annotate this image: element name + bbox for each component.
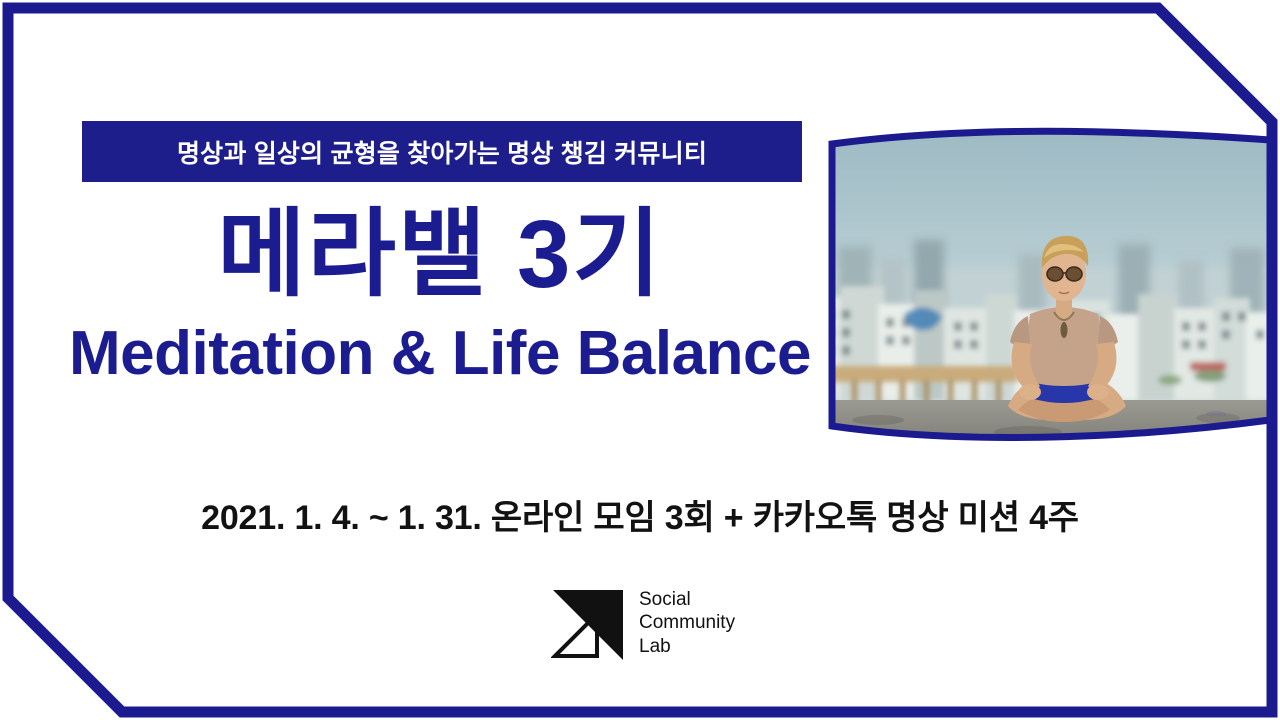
poster-canvas: 명상과 일상의 균형을 찾아가는 명상 챙김 커뮤니티 메라밸 3기 Medit…	[0, 0, 1280, 720]
logo-line-3: Lab	[639, 635, 735, 658]
photo-content	[818, 118, 1280, 448]
hero-photo	[818, 118, 1280, 448]
social-community-lab-mark	[551, 586, 625, 660]
page-title: 메라밸 3기	[0, 205, 880, 306]
hero-photo-svg	[818, 118, 1280, 448]
brand-logo: Social Community Lab	[551, 586, 735, 660]
schedule-detail-text: 2021. 1. 4. ~ 1. 31. 온라인 모임 3회 + 카카오톡 명상…	[0, 490, 1280, 539]
tagline-banner: 명상과 일상의 균형을 찾아가는 명상 챙김 커뮤니티	[82, 121, 802, 182]
tagline-text: 명상과 일상의 균형을 찾아가는 명상 챙김 커뮤니티	[177, 134, 707, 170]
logo-outline-triangle	[555, 614, 597, 656]
logo-wordmark: Social Community Lab	[639, 588, 735, 658]
logo-line-1: Social	[639, 588, 735, 611]
logo-line-2: Community	[639, 611, 735, 634]
page-subtitle: Meditation & Life Balance	[0, 320, 880, 388]
headline-block: 메라밸 3기 Meditation & Life Balance	[0, 205, 880, 388]
